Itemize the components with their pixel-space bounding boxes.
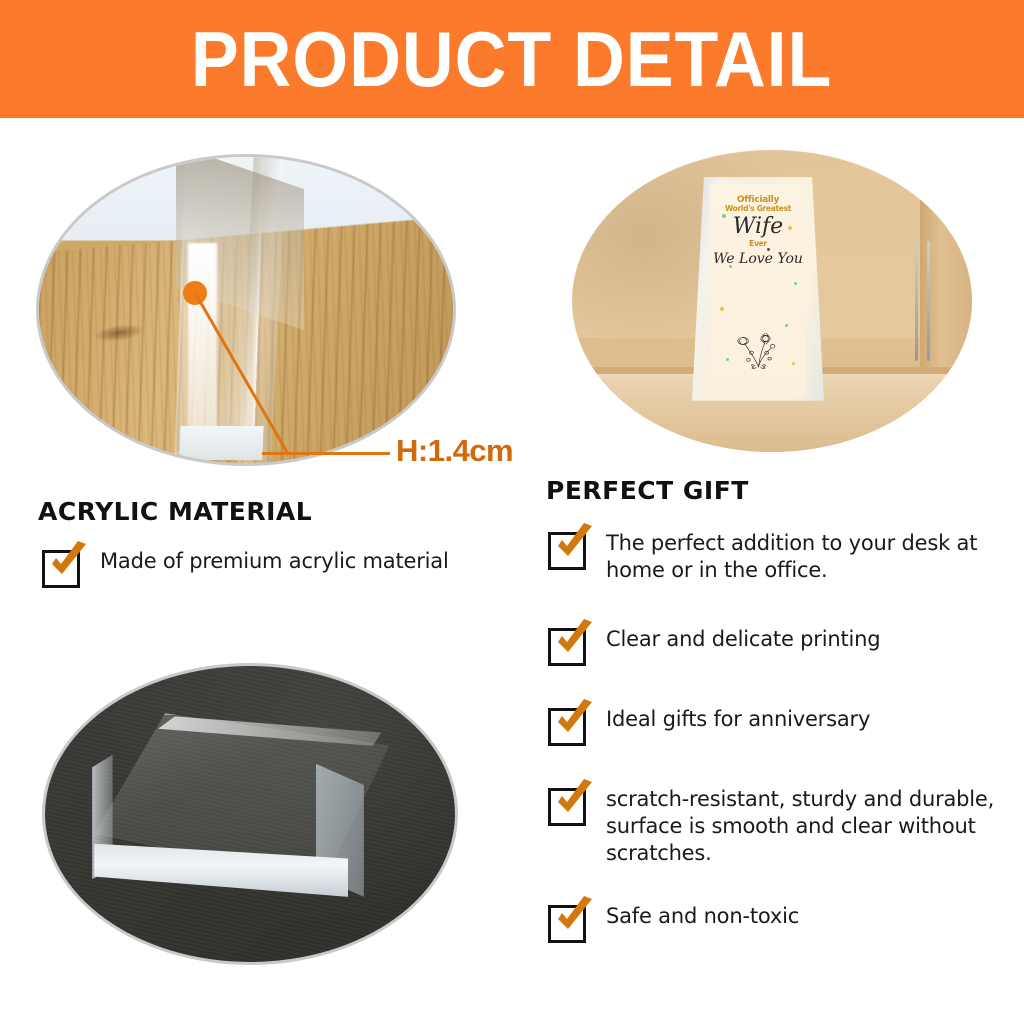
check-icon — [550, 618, 596, 664]
check-icon — [550, 698, 596, 744]
section-heading-acrylic-material: ACRYLIC MATERIAL — [38, 497, 312, 526]
sparkle-dot — [785, 324, 788, 327]
checkbox-checked — [548, 788, 586, 826]
page-title: PRODUCT DETAIL — [191, 20, 832, 98]
header-banner: PRODUCT DETAIL — [0, 0, 1024, 118]
check-icon — [550, 778, 596, 824]
wood-background — [39, 157, 453, 463]
list-item-label: The perfect addition to your desk at hom… — [606, 530, 998, 584]
dimension-label-height: H:1.4cm — [396, 433, 513, 469]
checkbox-checked — [548, 708, 586, 746]
list-item: The perfect addition to your desk at hom… — [548, 530, 998, 584]
list-item: Safe and non-toxic — [548, 903, 998, 943]
checkbox-checked — [548, 532, 586, 570]
sparkle-dot — [720, 307, 724, 311]
checkbox-checked — [548, 628, 586, 666]
acrylic-plaque: Officially World's Greatest Wife Ever We… — [692, 177, 824, 400]
sparkle-dot — [726, 358, 729, 361]
slate-background — [45, 666, 455, 962]
wife-plaque-on-shelf-photo: Officially World's Greatest Wife Ever We… — [572, 150, 972, 452]
dimension-leader-line-horizontal — [262, 452, 390, 455]
check-icon — [550, 895, 596, 941]
dimension-marker-dot — [183, 281, 207, 305]
room-background: Officially World's Greatest Wife Ever We… — [572, 150, 972, 452]
list-item-label: Safe and non-toxic — [606, 903, 799, 930]
plaque-line-ever: Ever — [749, 240, 767, 248]
sparkle-dot — [722, 214, 726, 218]
sparkle-dot — [739, 337, 742, 340]
plaque-line-we-love-you: We Love You — [713, 252, 803, 267]
flower-bouquet-icon — [729, 305, 788, 390]
plaque-line-wife: Wife — [733, 215, 783, 238]
check-icon — [44, 540, 90, 586]
section-heading-perfect-gift: PERFECT GIFT — [546, 476, 749, 505]
cabinet-handle-icon — [915, 241, 918, 362]
plaque-printed-face: Officially World's Greatest Wife Ever We… — [710, 184, 805, 396]
list-item-label: scratch-resistant, sturdy and durable, s… — [606, 786, 998, 867]
list-item-label: Made of premium acrylic material — [100, 548, 449, 575]
checkbox-checked — [548, 905, 586, 943]
sparkle-dot — [794, 282, 797, 285]
list-item: Clear and delicate printing — [548, 626, 998, 666]
acrylic-slab-base — [179, 426, 263, 460]
checkbox-checked — [42, 550, 80, 588]
list-item-label: Clear and delicate printing — [606, 626, 880, 653]
sparkle-dot — [788, 226, 792, 230]
sparkle-dot — [792, 362, 795, 365]
list-item: Ideal gifts for anniversary — [548, 706, 998, 746]
acrylic-block-on-slate-photo — [42, 663, 458, 965]
cabinet-handle-second-icon — [927, 241, 930, 362]
acrylic-slab-highlight — [188, 243, 217, 433]
list-item: Made of premium acrylic material — [42, 548, 512, 588]
list-item: scratch-resistant, sturdy and durable, s… — [548, 786, 998, 867]
acrylic-edge-on-wood-photo — [36, 154, 456, 466]
check-icon — [550, 522, 596, 568]
list-item-label: Ideal gifts for anniversary — [606, 706, 870, 733]
plaque-line-worlds-greatest: World's Greatest — [725, 205, 791, 213]
